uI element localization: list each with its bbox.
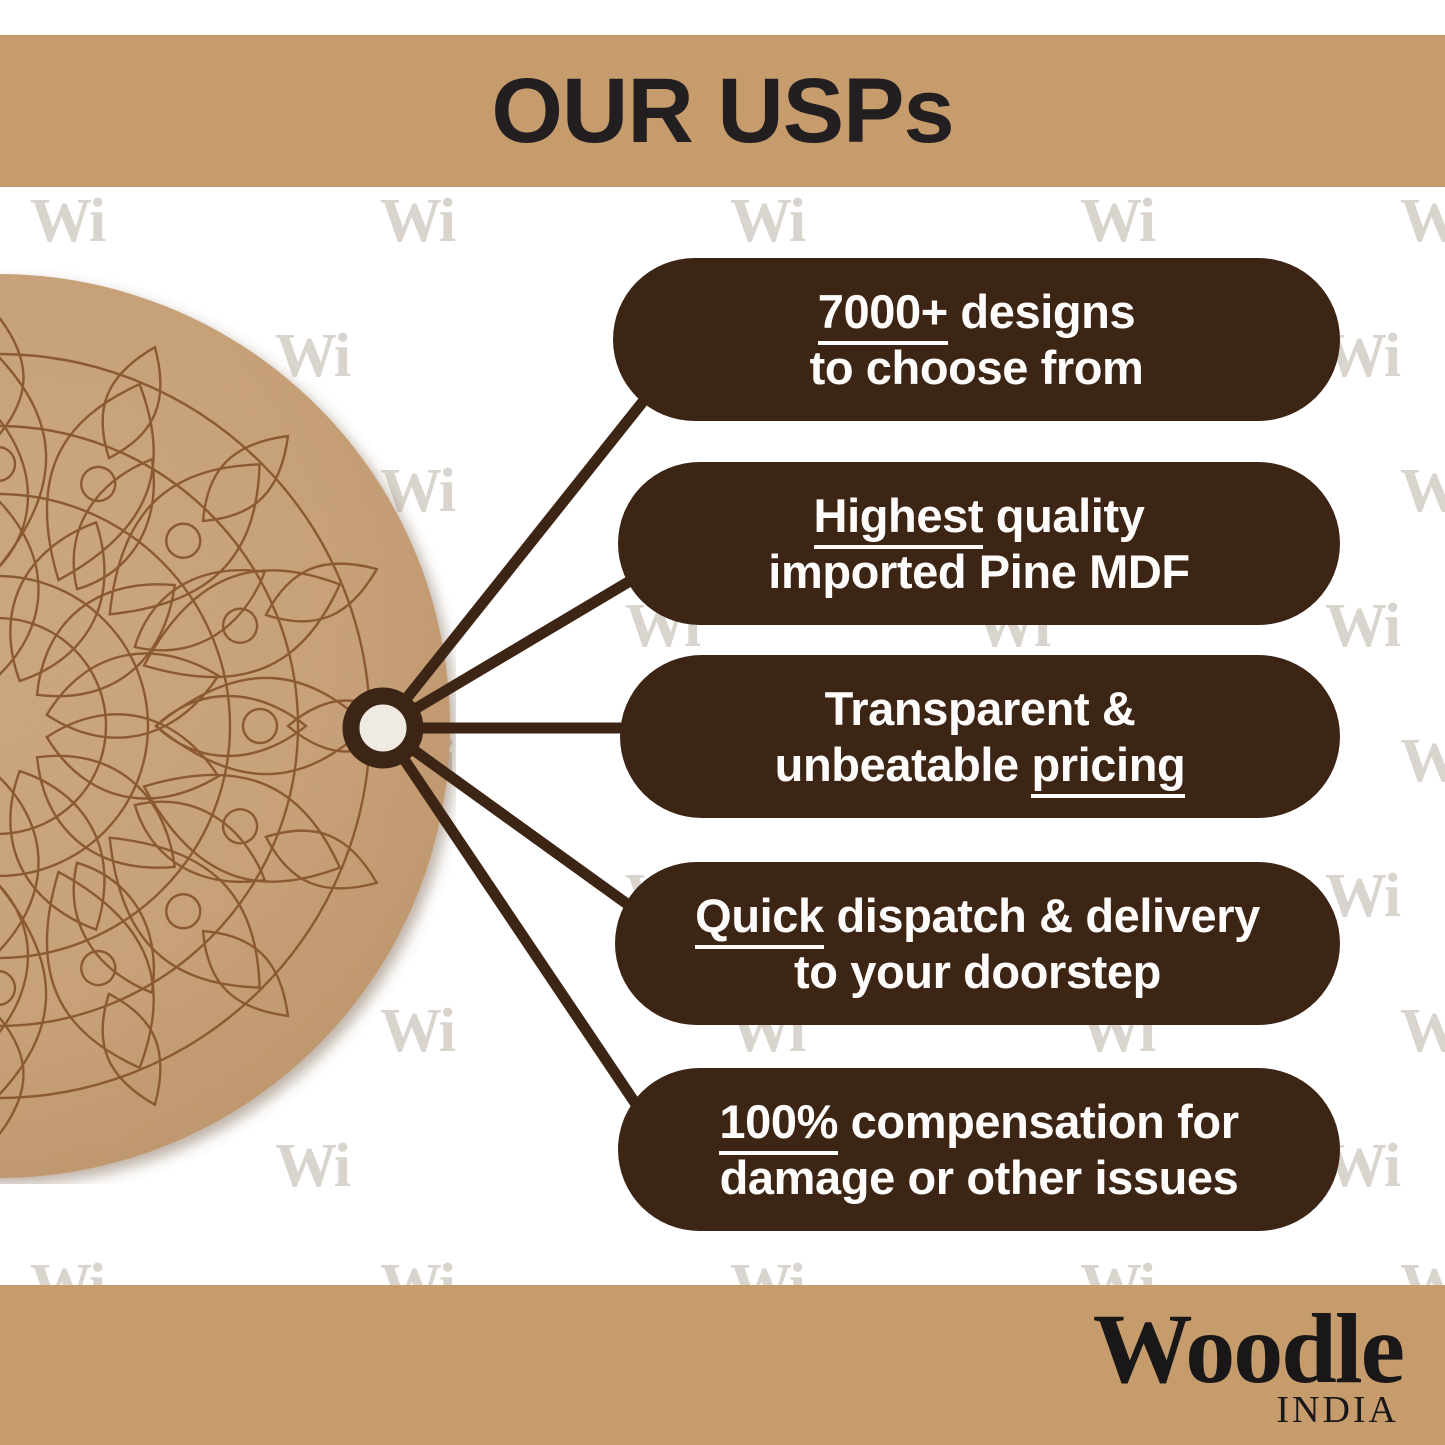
usp-highlight: 7000+ xyxy=(818,285,948,345)
brand-wordmark: Woodle xyxy=(1093,1299,1403,1399)
usp-list: 7000+ designs to choose from Highest qua… xyxy=(0,0,1445,1445)
usp-line-2: to your doorstep xyxy=(794,944,1161,999)
usp-pill-material-quality[interactable]: Highest quality imported Pine MDF xyxy=(618,462,1340,625)
usp-highlight: Highest xyxy=(814,489,984,549)
usp-line-1: Highest quality xyxy=(814,488,1145,543)
header-band: OUR USPs xyxy=(0,35,1445,187)
usp-pill-designs-count[interactable]: 7000+ designs to choose from xyxy=(613,258,1340,421)
usp-pill-dispatch-delivery[interactable]: Quick dispatch & delivery to your doorst… xyxy=(615,862,1340,1025)
footer-band: Woodle INDIA xyxy=(0,1285,1445,1445)
brand-logo: Woodle INDIA xyxy=(1093,1299,1403,1429)
usp-line-1: Quick dispatch & delivery xyxy=(695,888,1260,943)
usp-highlight: pricing xyxy=(1031,738,1185,798)
page-title: OUR USPs xyxy=(491,65,953,157)
usp-line-2: imported Pine MDF xyxy=(768,544,1189,599)
usp-highlight: Quick xyxy=(695,889,824,949)
usp-line-1: 100% compensation for xyxy=(719,1094,1238,1149)
usp-line-1: 7000+ designs xyxy=(818,284,1135,339)
usp-line-2: to choose from xyxy=(810,340,1144,395)
usp-highlight: 100% xyxy=(719,1095,838,1155)
usp-line-2: unbeatable pricing xyxy=(775,737,1186,792)
usp-line-2: damage or other issues xyxy=(720,1150,1239,1205)
usp-pill-pricing[interactable]: Transparent & unbeatable pricing xyxy=(620,655,1340,818)
usp-line-1: Transparent & xyxy=(825,681,1136,736)
usp-infographic: WiWiWiWiWiWiWiWiWiWiWiWiWiWiWiWiWiWiWiWi… xyxy=(0,0,1445,1445)
usp-pill-compensation[interactable]: 100% compensation for damage or other is… xyxy=(618,1068,1340,1231)
